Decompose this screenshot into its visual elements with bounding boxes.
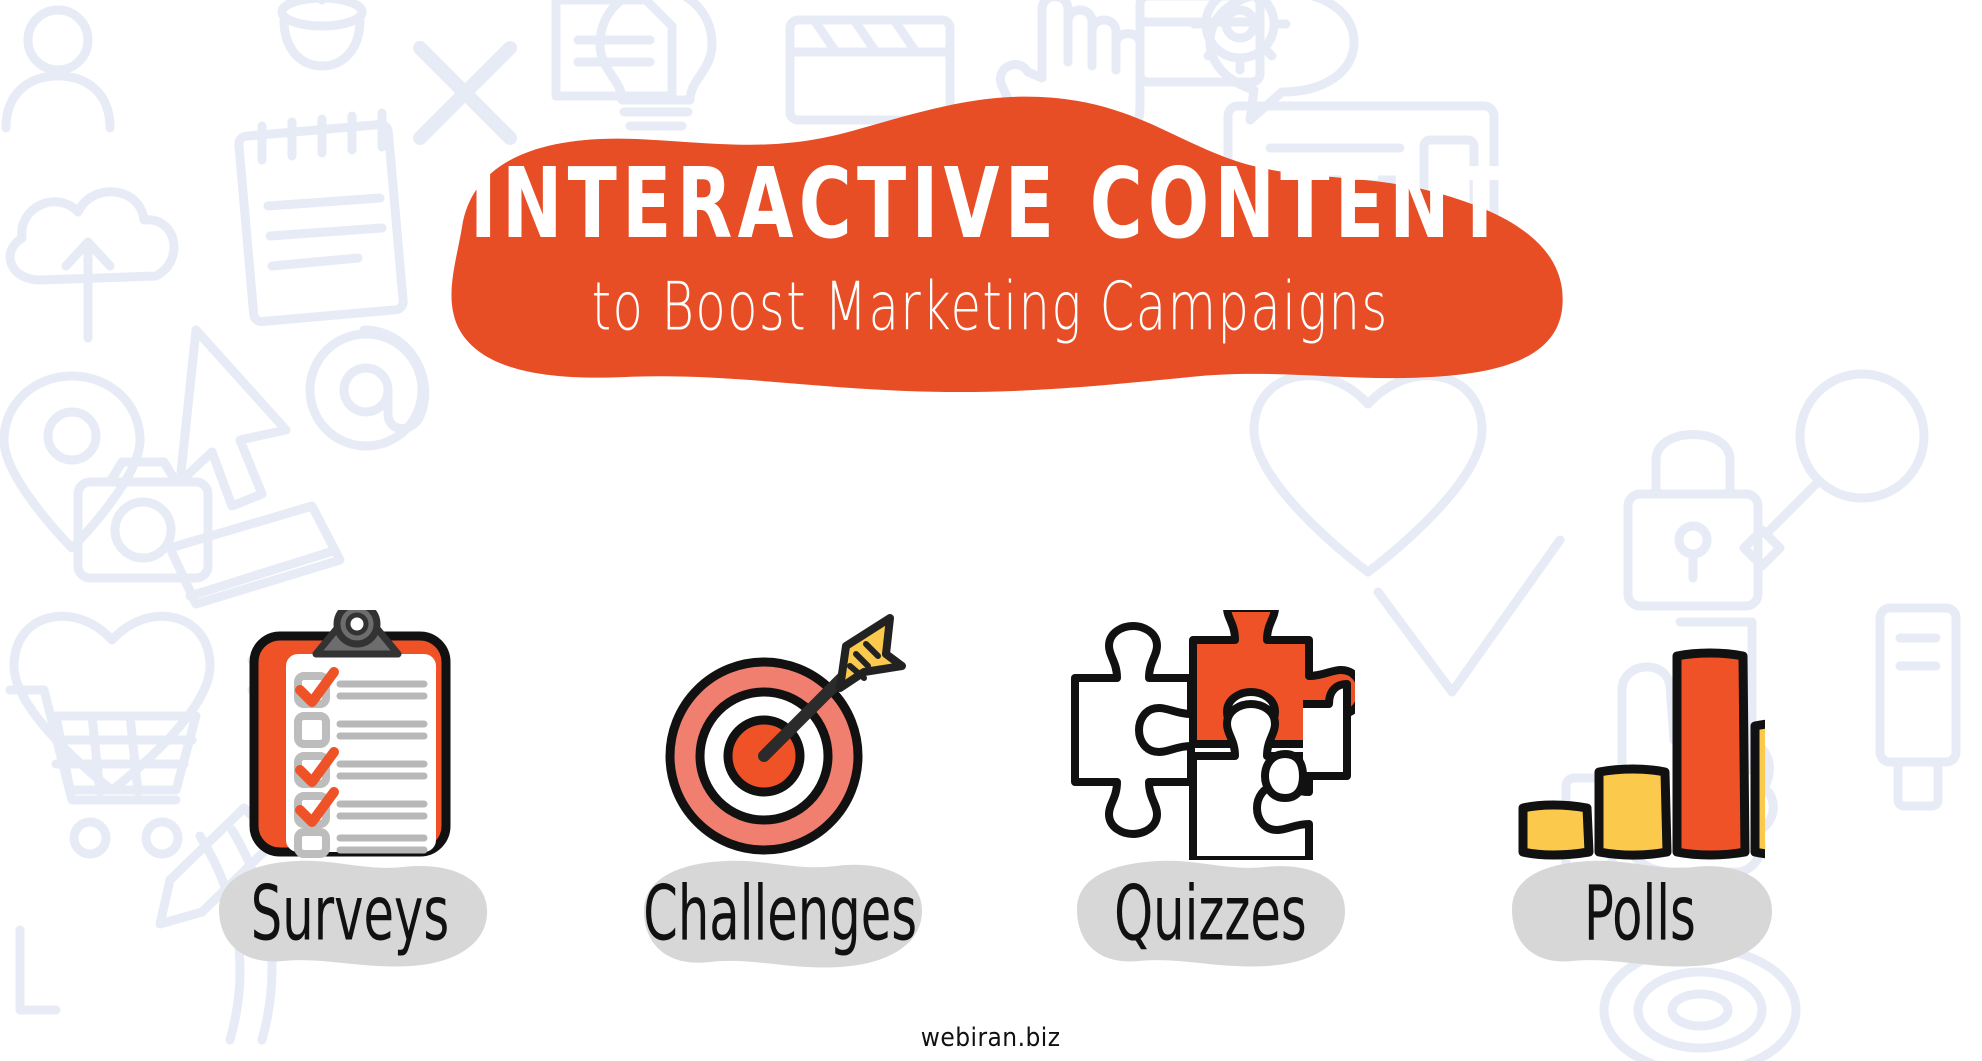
label-surveys: Surveys: [251, 868, 449, 957]
banner-text-block: INTERACTIVE CONTENT to Boost Marketing C…: [400, 95, 1580, 395]
notepad-icon: [238, 113, 404, 322]
page-subtitle: to Boost Marketing Campaigns: [592, 273, 1389, 340]
label-cell-challenges[interactable]: Challenges: [580, 848, 980, 978]
gear-icon: [1194, 0, 1286, 70]
footer-site-name: webiran.biz: [921, 1023, 1061, 1053]
label-cell-quizzes[interactable]: Quizzes: [1010, 848, 1410, 978]
card-challenges[interactable]: [580, 440, 980, 860]
card-polls[interactable]: [1440, 440, 1840, 860]
puzzle-piece-left: [1075, 626, 1191, 834]
label-cell-polls[interactable]: Polls: [1440, 848, 1840, 978]
footer: webiran.biz: [0, 1023, 1982, 1053]
window-icon: [1140, 0, 1260, 82]
page-title: INTERACTIVE CONTENT: [470, 159, 1510, 251]
card-surveys[interactable]: [150, 440, 550, 860]
clipboard-checklist-icon: [240, 610, 460, 860]
person-icon: [6, 10, 110, 128]
bar-chart-icon: [1515, 610, 1765, 860]
cloud-upload-icon: [10, 192, 174, 338]
banner: INTERACTIVE CONTENT to Boost Marketing C…: [400, 95, 1580, 395]
arrow-doodle-icon: [20, 930, 56, 1010]
target-arrow-icon: [650, 610, 910, 860]
card-polls-art: [1515, 610, 1765, 860]
label-polls: Polls: [1584, 868, 1696, 957]
label-challenges: Challenges: [643, 868, 917, 957]
icon-card-row: [150, 440, 1840, 860]
coffee-cup-icon: [282, 0, 362, 66]
usb-icon: [1880, 608, 1956, 806]
card-quizzes[interactable]: [1010, 440, 1410, 860]
location-pin-icon: [4, 376, 140, 548]
document-icon: [556, 0, 672, 96]
bar-3: [1677, 653, 1745, 855]
label-quizzes: Quizzes: [1114, 868, 1307, 957]
label-cell-surveys[interactable]: Surveys: [150, 848, 550, 978]
card-surveys-art: [240, 610, 460, 860]
card-challenges-art: [650, 610, 910, 860]
bar-2: [1599, 769, 1667, 855]
label-row: Surveys Challenges Quizzes Polls: [150, 848, 1840, 978]
puzzle-pieces-icon: [1065, 610, 1355, 860]
card-quizzes-art: [1065, 610, 1355, 860]
bar-4: [1755, 723, 1765, 855]
infographic-poster: INTERACTIVE CONTENT to Boost Marketing C…: [0, 0, 1982, 1061]
